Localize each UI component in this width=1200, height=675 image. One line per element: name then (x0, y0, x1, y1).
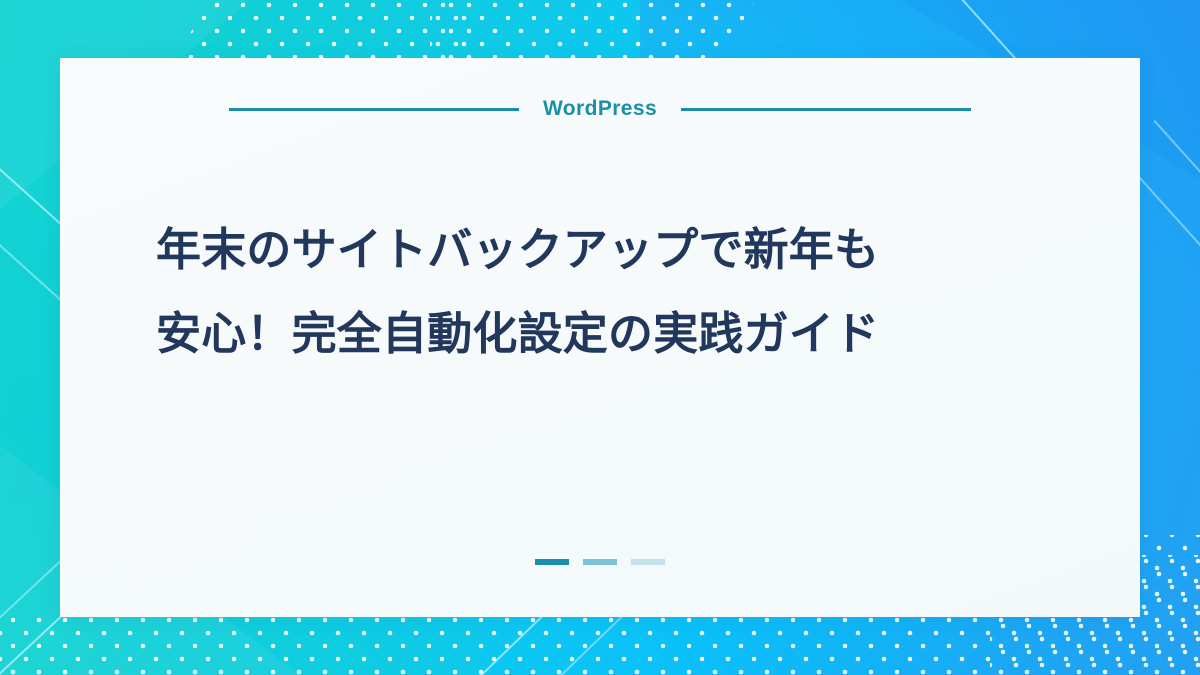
eyebrow: WordPress (60, 92, 1140, 126)
progress-bar-1[interactable] (535, 559, 569, 565)
progress-bar-2[interactable] (583, 559, 617, 565)
eyebrow-rule-left (229, 108, 519, 111)
progress-bar-3[interactable] (631, 559, 665, 565)
page-title-line-2: 安心！完全自動化設定の実践ガイド (156, 308, 879, 359)
title-block: 年末のサイトバックアップで新年も 安心！完全自動化設定の実践ガイド (156, 208, 1044, 375)
slide-canvas: WordPress 年末のサイトバックアップで新年も 安心！完全自動化設定の実践… (0, 0, 1200, 675)
page-title: 年末のサイトバックアップで新年も 安心！完全自動化設定の実践ガイド (156, 208, 1044, 375)
content-card: WordPress 年末のサイトバックアップで新年も 安心！完全自動化設定の実践… (60, 58, 1140, 617)
progress-indicator (60, 559, 1140, 565)
eyebrow-rule-right (681, 108, 971, 111)
category-label: WordPress (543, 97, 657, 121)
page-title-line-1: 年末のサイトバックアップで新年も (156, 224, 879, 275)
